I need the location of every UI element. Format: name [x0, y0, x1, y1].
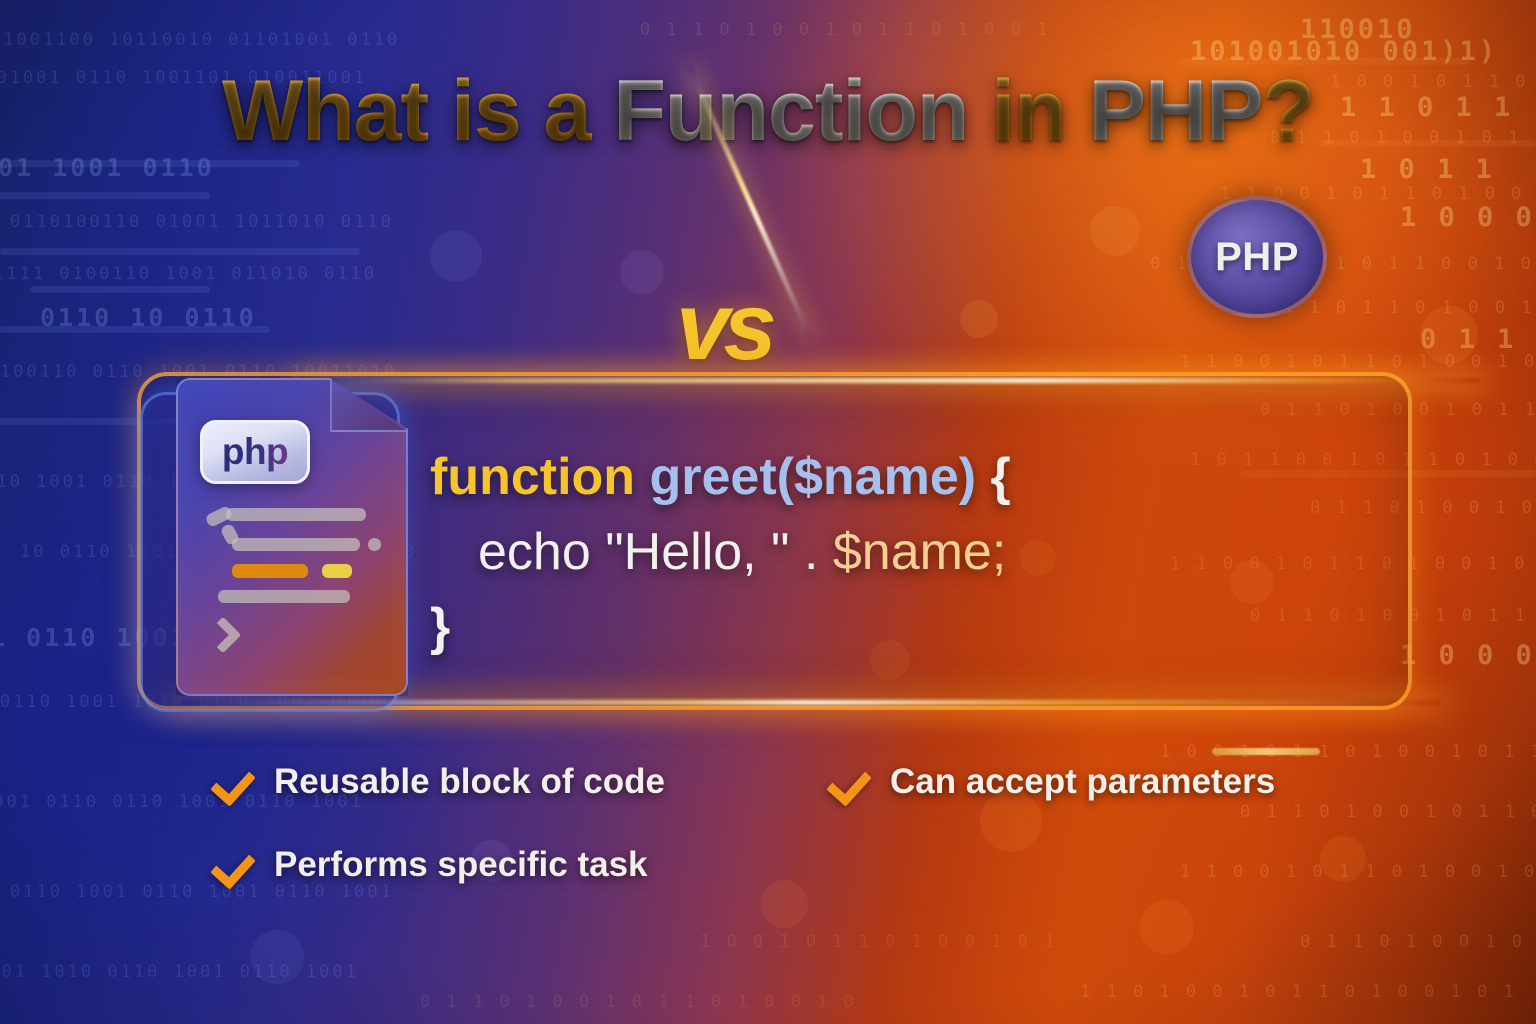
code-line-3: } [430, 590, 1190, 665]
file-code-line-highlight [232, 564, 308, 578]
bokeh-dot [1090, 206, 1140, 256]
bokeh-dot [620, 250, 664, 294]
bokeh-dot [760, 880, 808, 928]
title-part-3: in [968, 63, 1088, 159]
title-part-4: PHP [1089, 63, 1263, 159]
code-open-brace: { [976, 448, 1011, 506]
bullet-label: Reusable block of code [274, 762, 665, 802]
bokeh-dot [1320, 836, 1366, 882]
code-keyword-function: function [430, 448, 650, 506]
bullet-item: Performs specific task [212, 845, 648, 885]
scan-bar [0, 248, 360, 255]
check-icon [212, 762, 252, 802]
code-line-2: echo "Hello, " . $name; [430, 515, 1190, 590]
check-icon [828, 762, 868, 802]
code-snippet: function greet($name) { echo "Hello, " .… [430, 440, 1190, 665]
slide-canvas: 01001100 10110010 01101001 0110 1101001 … [0, 0, 1536, 1024]
php-file-icon: php [176, 378, 408, 696]
php-badge-label: PHP [1215, 235, 1299, 280]
bullet-item: Can accept parameters [828, 762, 1275, 802]
bullet-item: Reusable block of code [212, 762, 665, 802]
decorative-underline [1212, 748, 1320, 755]
code-variable-name: $name; [833, 523, 1006, 581]
file-code-line [226, 508, 366, 521]
file-code-dot [368, 538, 381, 551]
file-code-line [218, 590, 350, 603]
code-function-signature: greet($name) [650, 448, 977, 506]
php-chip-label: php [222, 431, 288, 473]
bokeh-dot [1420, 306, 1478, 364]
file-code-line [232, 538, 360, 551]
title-part-2: Function [613, 63, 968, 159]
bullet-label: Performs specific task [274, 845, 648, 885]
php-logo-badge: PHP [1187, 196, 1327, 318]
scan-bar [0, 160, 300, 167]
scan-bar [0, 326, 270, 333]
bokeh-dot [1140, 900, 1194, 954]
scan-bar [0, 192, 210, 199]
title-question-mark: ? [1262, 63, 1314, 159]
vs-glyph: vs [676, 272, 771, 382]
page-title: What is a Function in PHP? [0, 62, 1536, 161]
bokeh-dot [960, 300, 998, 338]
php-file-chip: php [200, 420, 310, 484]
file-code-line-highlight [322, 564, 352, 578]
title-part-1: What is a [222, 63, 613, 159]
code-close-brace: } [430, 598, 450, 656]
file-folded-corner [330, 378, 408, 432]
bokeh-dot [430, 230, 482, 282]
code-line-1: function greet($name) { [430, 440, 1190, 515]
scan-bar [30, 286, 210, 293]
bullet-label: Can accept parameters [890, 762, 1275, 802]
bokeh-dot [250, 930, 304, 984]
code-echo-statement: echo "Hello, " . [478, 523, 833, 581]
check-icon [212, 845, 252, 885]
